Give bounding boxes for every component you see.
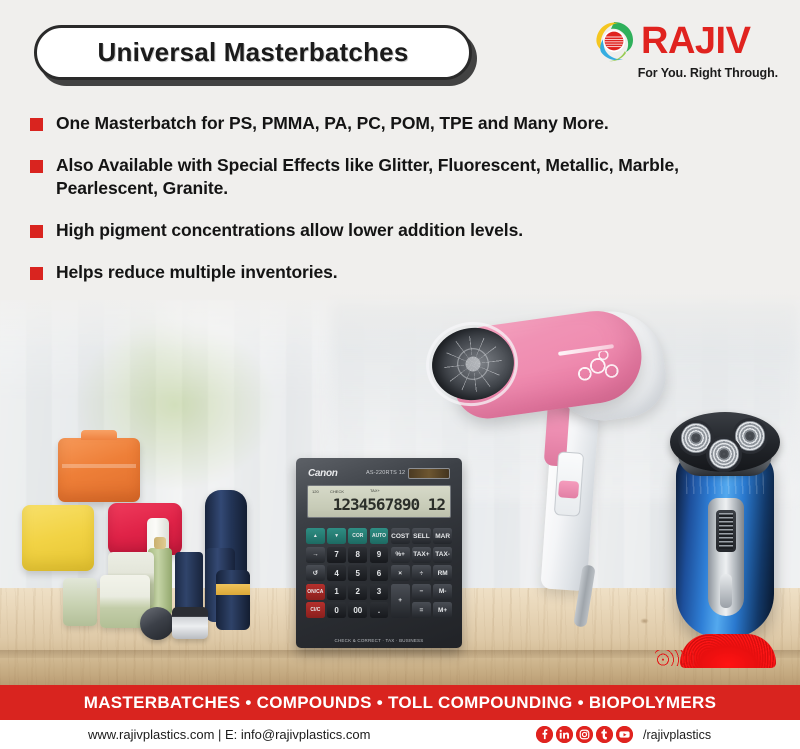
key-6[interactable]: 6 — [370, 565, 389, 581]
green-jar — [63, 578, 97, 626]
key-multiply[interactable]: × — [391, 565, 410, 581]
key-dot[interactable]: . — [370, 602, 389, 618]
list-item-label: One Masterbatch for PS, PMMA, PA, PC, PO… — [56, 112, 609, 135]
brand-name: RAJIV — [641, 20, 750, 62]
shaver-head — [670, 412, 780, 472]
red-square-bullet-icon — [30, 225, 43, 238]
rotary-blade-icon — [706, 436, 742, 472]
key-on-ca[interactable]: ON/CA — [306, 584, 325, 600]
services-banner: MASTERBATCHES • COMPOUNDS • TOLL COMPOUN… — [0, 685, 800, 720]
red-container — [108, 503, 182, 555]
key-divide[interactable]: ÷ — [412, 565, 431, 581]
swirl-globe-icon — [592, 19, 636, 63]
key-9[interactable]: 9 — [370, 547, 389, 563]
key-tax-plus[interactable]: TAX+ — [412, 547, 431, 563]
orange-container — [58, 438, 140, 502]
brand-tagline: For You. Right Through. — [592, 66, 778, 80]
shaver-power-button — [720, 574, 732, 608]
silver-jar — [172, 607, 208, 639]
key-plus[interactable]: + — [391, 584, 410, 619]
list-item-label: High pigment concentrations allow lower … — [56, 219, 523, 242]
key-sell[interactable]: SELL — [412, 528, 431, 544]
key-auto-check[interactable]: AUTO — [370, 528, 389, 544]
dryer-bubble-decal-icon — [572, 349, 622, 385]
red-granules-scatter — [655, 650, 695, 666]
yellow-container — [22, 505, 94, 571]
screen-label-left: 120 — [312, 489, 319, 494]
social-handle[interactable]: /rajivplastics — [643, 728, 711, 742]
red-square-bullet-icon — [30, 267, 43, 280]
instagram-icon[interactable] — [576, 726, 593, 743]
key-8[interactable]: 8 — [348, 547, 367, 563]
linkedin-icon[interactable] — [556, 726, 573, 743]
navy-bottle-gold-band — [216, 570, 250, 630]
electric-shaver — [660, 398, 790, 648]
key-2[interactable]: 2 — [348, 584, 367, 600]
list-item: Also Available with Special Effects like… — [30, 154, 774, 200]
key-4[interactable]: 4 — [327, 565, 346, 581]
shaver-trimmer — [716, 510, 736, 552]
brand-logo: RAJIV For You. Right Through. — [592, 18, 778, 90]
key-correct[interactable]: COR — [348, 528, 367, 544]
footer-bar: www.rajivplastics.com | E: info@rajivpla… — [0, 720, 800, 749]
key-1[interactable]: 1 — [327, 584, 346, 600]
youtube-icon[interactable] — [616, 726, 633, 743]
dryer-switch — [554, 451, 584, 517]
hair-dryer — [430, 300, 660, 640]
header: Universal Masterbatches — [0, 0, 800, 105]
page-title-text: Universal Masterbatches — [98, 37, 409, 68]
contact-info[interactable]: www.rajivplastics.com | E: info@rajivpla… — [88, 727, 370, 742]
social-links: /rajivplastics — [536, 726, 711, 743]
key-00[interactable]: 00 — [348, 602, 367, 618]
list-item: One Masterbatch for PS, PMMA, PA, PC, PO… — [30, 112, 774, 135]
key-arrow-right[interactable]: → — [306, 547, 325, 563]
calculator-model: AS-220RTS 12 — [366, 470, 405, 476]
calculator-brand: Canon — [308, 468, 338, 479]
list-item: High pigment concentrations allow lower … — [30, 219, 774, 242]
key-up[interactable]: ▲ — [306, 528, 325, 544]
key-minus[interactable]: − — [412, 584, 431, 600]
red-square-bullet-icon — [30, 160, 43, 173]
screen-label-tax: TAX+ — [370, 488, 380, 493]
services-banner-text: MASTERBATCHES • COMPOUNDS • TOLL COMPOUN… — [84, 693, 717, 713]
facebook-icon[interactable] — [536, 726, 553, 743]
list-item-label: Helps reduce multiple inventories. — [56, 261, 338, 284]
poster: Canon AS-220RTS 12 120 CHECK TAX+ 123456… — [0, 0, 800, 749]
tumblr-icon[interactable] — [596, 726, 613, 743]
key-7[interactable]: 7 — [327, 547, 346, 563]
red-square-bullet-icon — [30, 118, 43, 131]
key-0[interactable]: 0 — [327, 602, 346, 618]
key-ci-c[interactable]: CI/C — [306, 602, 325, 618]
key-3[interactable]: 3 — [370, 584, 389, 600]
key-rotate[interactable]: ↺ — [306, 565, 325, 581]
list-item: Helps reduce multiple inventories. — [30, 261, 774, 284]
calculator-display-value: 1234567890 12 — [333, 495, 445, 514]
list-item-label: Also Available with Special Effects like… — [56, 154, 756, 200]
screen-label-check: CHECK — [330, 489, 344, 494]
key-percent[interactable]: %+ — [391, 547, 410, 563]
page-title: Universal Masterbatches — [34, 25, 472, 80]
feature-list: One Masterbatch for PS, PMMA, PA, PC, PO… — [30, 112, 774, 303]
key-down[interactable]: ▼ — [327, 528, 346, 544]
key-5[interactable]: 5 — [348, 565, 367, 581]
key-equals[interactable]: = — [412, 602, 431, 618]
key-cost[interactable]: COST — [391, 528, 410, 544]
dark-lid — [140, 607, 174, 640]
